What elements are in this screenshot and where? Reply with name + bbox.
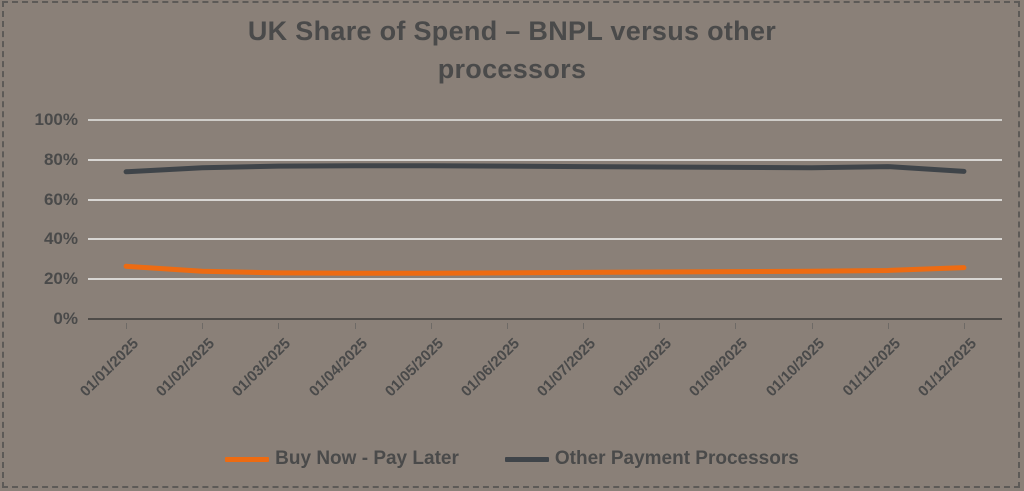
chart-legend: Buy Now - Pay LaterOther Payment Process… bbox=[0, 448, 1024, 470]
x-axis-tick bbox=[355, 323, 356, 329]
x-axis-tick bbox=[202, 323, 203, 329]
x-axis-labels: 01/01/202501/02/202501/03/202501/04/2025… bbox=[88, 323, 1002, 423]
x-axis-tick-label: 01/04/2025 bbox=[288, 335, 371, 418]
series-line-buy-now-pay-later bbox=[126, 266, 964, 273]
x-axis-tick bbox=[888, 323, 889, 329]
x-axis-tick bbox=[583, 323, 584, 329]
x-axis-tick bbox=[812, 323, 813, 329]
y-axis-tick-label: 60% bbox=[44, 190, 78, 210]
x-axis-tick bbox=[964, 323, 965, 329]
x-axis-tick-label: 01/12/2025 bbox=[897, 335, 980, 418]
x-axis-tick bbox=[431, 323, 432, 329]
chart-screenshot: UK Share of Spend – BNPL versus other pr… bbox=[0, 0, 1024, 491]
x-axis-tick-label: 01/08/2025 bbox=[593, 335, 676, 418]
x-axis-tick-label: 01/05/2025 bbox=[364, 335, 447, 418]
chart-title-line-2: processors bbox=[60, 50, 964, 88]
x-axis-tick-label: 01/03/2025 bbox=[212, 335, 295, 418]
plot-area bbox=[88, 120, 1002, 319]
x-axis-tick bbox=[659, 323, 660, 329]
chart-title-line-1: UK Share of Spend – BNPL versus other bbox=[60, 12, 964, 50]
x-axis-tick-label: 01/07/2025 bbox=[516, 335, 599, 418]
chart-title: UK Share of Spend – BNPL versus other pr… bbox=[60, 12, 964, 89]
x-axis-tick-label: 01/06/2025 bbox=[440, 335, 523, 418]
series-lines bbox=[88, 120, 1002, 319]
legend-swatch-icon bbox=[225, 457, 269, 462]
y-axis-tick-label: 80% bbox=[44, 150, 78, 170]
x-axis-tick bbox=[278, 323, 279, 329]
x-axis-tick-label: 01/02/2025 bbox=[136, 335, 219, 418]
y-axis-tick-label: 40% bbox=[44, 229, 78, 249]
y-axis-tick-label: 0% bbox=[53, 309, 78, 329]
x-axis-tick bbox=[507, 323, 508, 329]
y-axis-tick-label: 20% bbox=[44, 269, 78, 289]
y-axis-tick-label: 100% bbox=[35, 110, 78, 130]
x-axis-tick bbox=[735, 323, 736, 329]
series-line-other-payment-processors bbox=[126, 166, 964, 172]
legend-label: Other Payment Processors bbox=[555, 448, 799, 470]
x-axis-tick-label: 01/01/2025 bbox=[59, 335, 142, 418]
x-axis-tick-label: 01/10/2025 bbox=[745, 335, 828, 418]
legend-swatch-icon bbox=[505, 457, 549, 462]
x-axis-tick-label: 01/11/2025 bbox=[821, 335, 904, 418]
x-axis-tick-label: 01/09/2025 bbox=[669, 335, 752, 418]
y-axis-labels: 0%20%40%60%80%100% bbox=[0, 120, 88, 319]
legend-item[interactable]: Other Payment Processors bbox=[505, 448, 799, 470]
x-axis-tick bbox=[126, 323, 127, 329]
legend-label: Buy Now - Pay Later bbox=[275, 448, 459, 470]
legend-item[interactable]: Buy Now - Pay Later bbox=[225, 448, 459, 470]
